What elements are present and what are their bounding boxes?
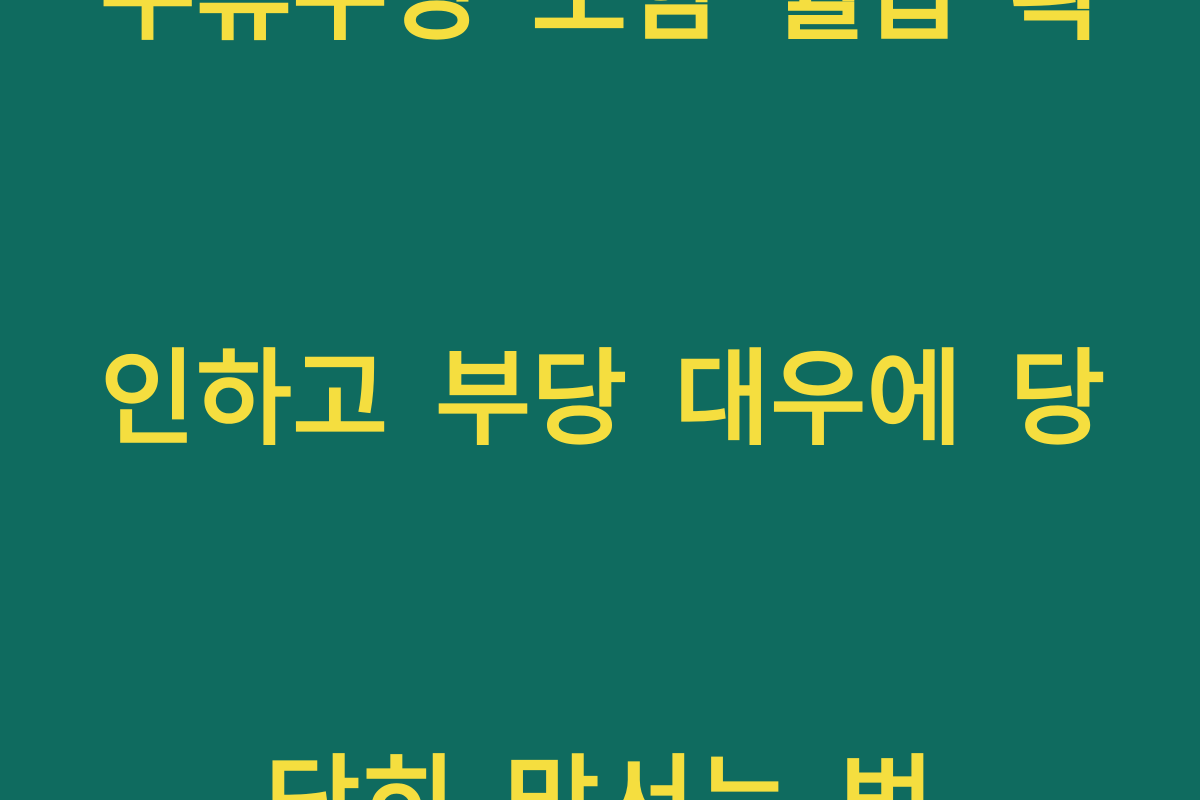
thumbnail-banner: 주휴수당 포함 월급 확 인하고 부당 대우에 당 당히 맞서는 법 [0, 0, 1200, 800]
headline-line-3: 당히 맞서는 법 [100, 738, 1100, 800]
headline-line-1: 주휴수당 포함 월급 확 [100, 0, 1100, 62]
headline-line-2: 인하고 부당 대우에 당 [100, 332, 1100, 467]
headline-block: 주휴수당 포함 월급 확 인하고 부당 대우에 당 당히 맞서는 법 [100, 0, 1100, 800]
page-title: 주휴수당 포함 월급 확 인하고 부당 대우에 당 당히 맞서는 법 [100, 0, 1100, 800]
